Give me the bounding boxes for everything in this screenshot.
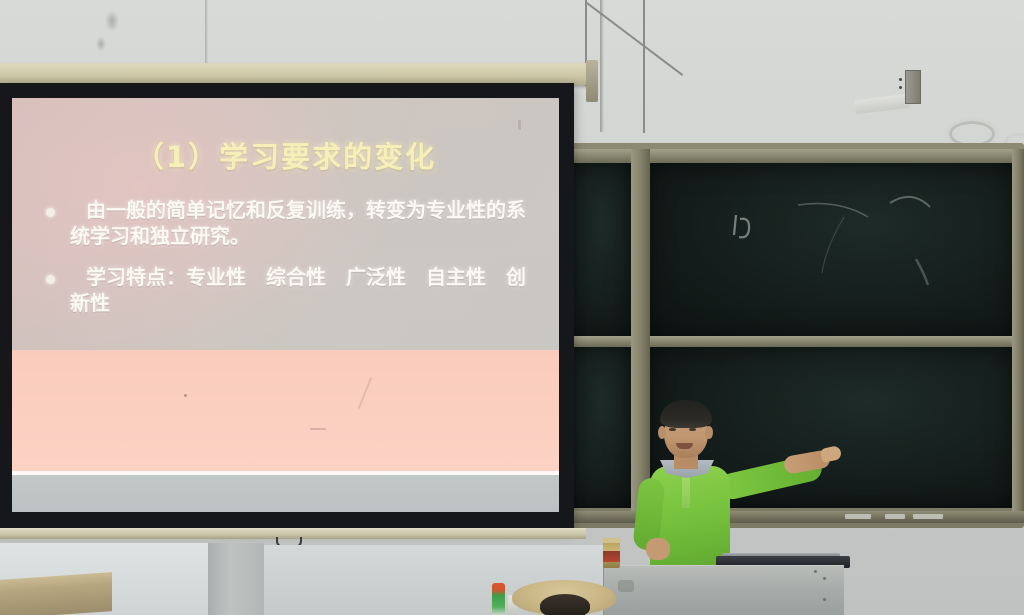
presentation-slide: （1）学习要求的变化 由一般的简单记忆和反复训练，转变为专业性的系统学习和独立研… [12,98,559,512]
slide-title: （1）学习要求的变化 [12,134,559,176]
slide-footer-area [12,475,559,512]
wall-cable [643,0,645,133]
presenter-pointing-hand [820,445,842,463]
podium-smudge [618,580,634,592]
bullet-text: 由一般的简单记忆和反复训练，转变为专业性的系统学习和独立研究。 [70,198,545,249]
podium-screw [823,577,826,580]
presenter-ear [705,426,713,439]
screen-speck [518,120,521,130]
chalk-marks [648,163,1014,338]
screen-surface: （1）学习要求的变化 由一般的简单记忆和反复训练，转变为专业性的系统学习和独立研… [12,98,559,512]
screen-roller-end-cap [586,60,598,102]
bracket-screw [899,78,902,81]
bullet-text: 学习特点：专业性 综合性 广泛性 自主性 创新性 [70,265,545,316]
bullet-dot-icon [46,275,55,284]
podium-screw [814,570,817,573]
desk-ledge [0,572,112,615]
presenter-eye [689,428,696,431]
chalk-piece[interactable] [885,514,905,519]
wall-smudge [105,10,119,32]
hat-band [540,594,590,615]
wall-bracket [905,70,921,104]
wall-corner-seam [600,0,604,132]
can-label [603,551,620,562]
list-item: 由一般的简单记忆和反复训练，转变为专业性的系统学习和独立研究。 [40,198,545,249]
bullet-dot-icon [46,208,55,217]
list-item: 学习特点：专业性 综合性 广泛性 自主性 创新性 [40,265,545,316]
screen-speck [310,428,326,430]
podium[interactable] [603,565,844,615]
presenter-hair [660,400,712,428]
presenter-ear [658,426,666,439]
door-frame [208,543,264,615]
classroom-photo: （1）学习要求的变化 由一般的简单记忆和反复训练，转变为专业性的系统学习和独立研… [0,0,1024,615]
shirt-placket [682,474,690,508]
can-lid [602,538,621,543]
presenter-left-hand [646,538,670,560]
screen-speck [184,394,187,397]
chalk-piece[interactable] [913,514,943,519]
slide-bullet-list: 由一般的简单记忆和反复训练，转变为专业性的系统学习和独立研究。 学习特点：专业性… [40,198,545,332]
blackboard-rail-top [555,149,1024,163]
slide-accent-band [12,350,559,473]
wall-smudge [96,36,106,52]
chalk-piece[interactable] [845,514,871,519]
bottle[interactable] [492,583,505,615]
presenter-eye [669,428,676,431]
bracket-screw [899,86,902,89]
screen-roller-case [0,63,594,85]
podium-screw [823,598,826,601]
